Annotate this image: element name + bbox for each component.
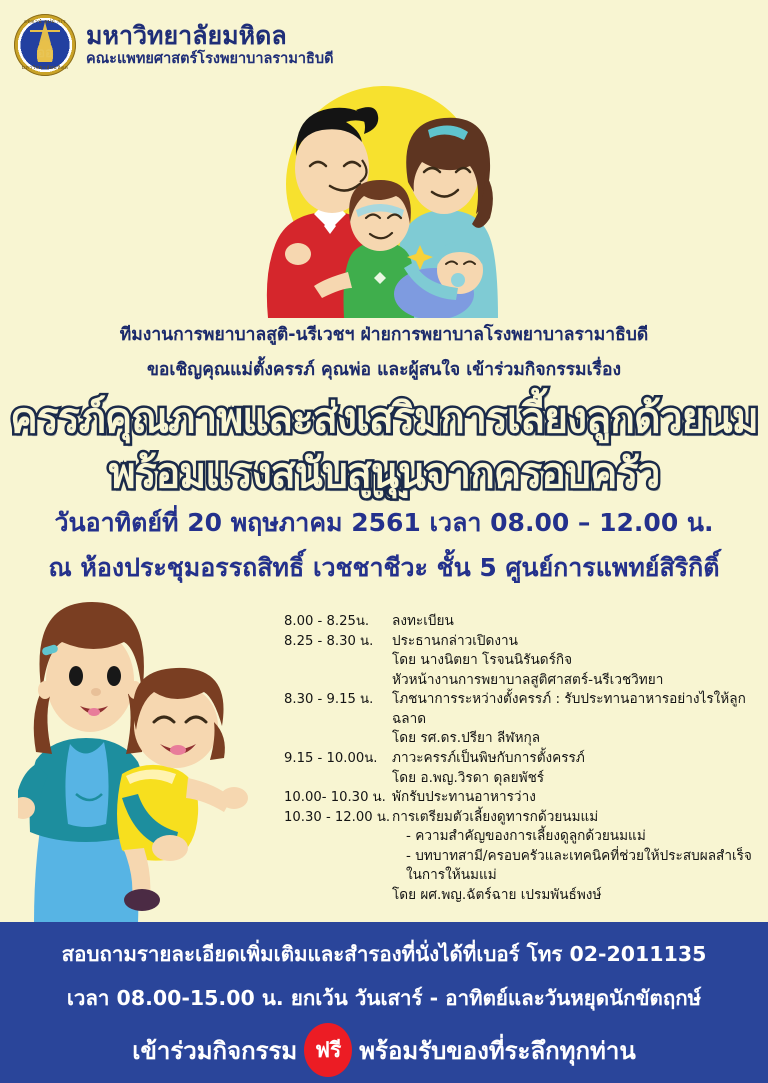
schedule-desc-line: โดย นางนิตยา โรจนนิรันดร์กิจ bbox=[392, 651, 754, 671]
schedule-desc-line: หัวหน้างานการพยาบาลสูติศาสตร์-นรีเวชวิทย… bbox=[392, 671, 754, 691]
schedule-list: 8.00 - 8.25น. ลงทะเบียน 8.25 - 8.30 น. ป… bbox=[284, 612, 754, 905]
schedule-desc: โภชนาการระหว่างตั้งครรภ์ : รับประทานอาหา… bbox=[392, 690, 754, 749]
brand-text-block: มหาวิทยาลัยมหิดล คณะแพทยศาสตร์โรงพยาบาลร… bbox=[86, 22, 333, 67]
schedule-desc-line: โดย ผศ.พญ.ฉัตร์ฉาย เปรมพันธ์พงษ์ bbox=[392, 886, 754, 906]
faculty-name: คณะแพทยศาสตร์โรงพยาบาลรามาธิบดี bbox=[86, 51, 333, 67]
schedule-row: 8.00 - 8.25น. ลงทะเบียน bbox=[284, 612, 754, 632]
mother-child-illustration bbox=[18, 598, 280, 923]
schedule-desc-line: โดย รศ.ดร.ปรียา ลีฬหกุล bbox=[392, 729, 754, 749]
mother-child-svg bbox=[18, 598, 280, 923]
schedule-time: 9.15 - 10.00น. bbox=[284, 749, 392, 768]
footer-free-line: เข้าร่วมกิจกรรม ฟรี พร้อมรับของที่ระลึกท… bbox=[0, 1023, 768, 1077]
schedule-desc: พักรับประทานอาหารว่าง bbox=[392, 788, 754, 808]
schedule-desc: ภาวะครรภ์เป็นพิษกับการตั้งครรภ์ โดย อ.พญ… bbox=[392, 749, 754, 788]
footer-free-suffix: พร้อมรับของที่ระลึกทุกท่าน bbox=[359, 1031, 636, 1070]
schedule-desc: ลงทะเบียน bbox=[392, 612, 754, 632]
event-date-time: วันอาทิตย์ที่ 20 พฤษภาคม 2561 เวลา 08.00… bbox=[0, 503, 768, 543]
schedule-time: 10.30 - 12.00 น. bbox=[284, 808, 392, 827]
schedule-desc: การเตรียมตัวเลี้ยงดูทารกด้วยนมแม่ - ความ… bbox=[392, 808, 754, 906]
schedule-desc-line: โดย อ.พญ.วิรดา ดุลยพัชร์ bbox=[392, 769, 754, 789]
schedule-desc-line: โภชนาการระหว่างตั้งครรภ์ : รับประทานอาหา… bbox=[392, 690, 754, 729]
family-figures-svg bbox=[252, 86, 520, 318]
footer-free-prefix: เข้าร่วมกิจกรรม bbox=[132, 1031, 297, 1070]
schedule-time: 10.00- 10.30 น. bbox=[284, 788, 392, 807]
schedule-time: 8.30 - 9.15 น. bbox=[284, 690, 392, 709]
free-badge: ฟรี bbox=[304, 1023, 352, 1077]
seal-center-symbol: ออ bbox=[37, 47, 53, 60]
intro-line-1: ทีมงานการพยาบาลสูติ-นรีเวชฯ ฝ่ายการพยาบา… bbox=[0, 320, 768, 348]
footer-hours-line: เวลา 08.00-15.00 น. ยกเว้น วันเสาร์ - อา… bbox=[0, 982, 768, 1015]
intro-line-2: ขอเชิญคุณแม่ตั้งครรภ์ คุณพ่อ และผู้สนใจ … bbox=[0, 355, 768, 383]
poster-title-line-2: พร้อมแรงสนับสนุนจากครอบครัว bbox=[0, 441, 768, 506]
schedule-desc: ประธานกล่าวเปิดงาน โดย นางนิตยา โรจนนิรั… bbox=[392, 632, 754, 691]
schedule-row: 9.15 - 10.00น. ภาวะครรภ์เป็นพิษกับการตั้… bbox=[284, 749, 754, 788]
schedule-row: 8.30 - 9.15 น. โภชนาการระหว่างตั้งครรภ์ … bbox=[284, 690, 754, 749]
footer-contact-line: สอบถามรายละเอียดเพิ่มเติมและสำรองที่นั่ง… bbox=[0, 938, 768, 971]
schedule-desc-line: - บทบาทสามี/ครอบครัวและเทคนิคที่ช่วยให้ป… bbox=[392, 847, 754, 886]
schedule-row: 8.25 - 8.30 น. ประธานกล่าวเปิดงาน โดย นา… bbox=[284, 632, 754, 691]
event-location: ณ ห้องประชุมอรรถสิทธิ์ เวชชาชีวะ ชั้น 5 … bbox=[0, 548, 768, 588]
university-name: มหาวิทยาลัยมหิดล bbox=[86, 22, 333, 50]
poster-root: อตฺตานํ อุปมํ กเร ออ มหาวิทยาลัยมหิดล มห… bbox=[0, 0, 768, 1083]
mahidol-seal-logo: อตฺตานํ อุปมํ กเร ออ มหาวิทยาลัยมหิดล bbox=[14, 14, 76, 76]
schedule-time: 8.25 - 8.30 น. bbox=[284, 632, 392, 651]
schedule-desc-line: - ความสำคัญของการเลี้ยงดูลูกด้วยนมแม่ bbox=[392, 827, 754, 847]
seal-bottom-text: มหาวิทยาลัยมหิดล bbox=[14, 64, 76, 72]
schedule-desc-line: การเตรียมตัวเลี้ยงดูทารกด้วยนมแม่ bbox=[392, 808, 754, 828]
family-illustration bbox=[252, 86, 520, 318]
schedule-row: 10.00- 10.30 น. พักรับประทานอาหารว่าง bbox=[284, 788, 754, 808]
contact-footer: สอบถามรายละเอียดเพิ่มเติมและสำรองที่นั่ง… bbox=[0, 922, 768, 1083]
brand-header: อตฺตานํ อุปมํ กเร ออ มหาวิทยาลัยมหิดล มห… bbox=[14, 14, 333, 76]
schedule-row: 10.30 - 12.00 น. การเตรียมตัวเลี้ยงดูทาร… bbox=[284, 808, 754, 906]
schedule-desc-line: พักรับประทานอาหารว่าง bbox=[392, 788, 754, 808]
schedule-desc-line: ประธานกล่าวเปิดงาน bbox=[392, 632, 754, 652]
schedule-desc-line: ภาวะครรภ์เป็นพิษกับการตั้งครรภ์ bbox=[392, 749, 754, 769]
schedule-desc-line: ลงทะเบียน bbox=[392, 612, 754, 632]
schedule-time: 8.00 - 8.25น. bbox=[284, 612, 392, 631]
